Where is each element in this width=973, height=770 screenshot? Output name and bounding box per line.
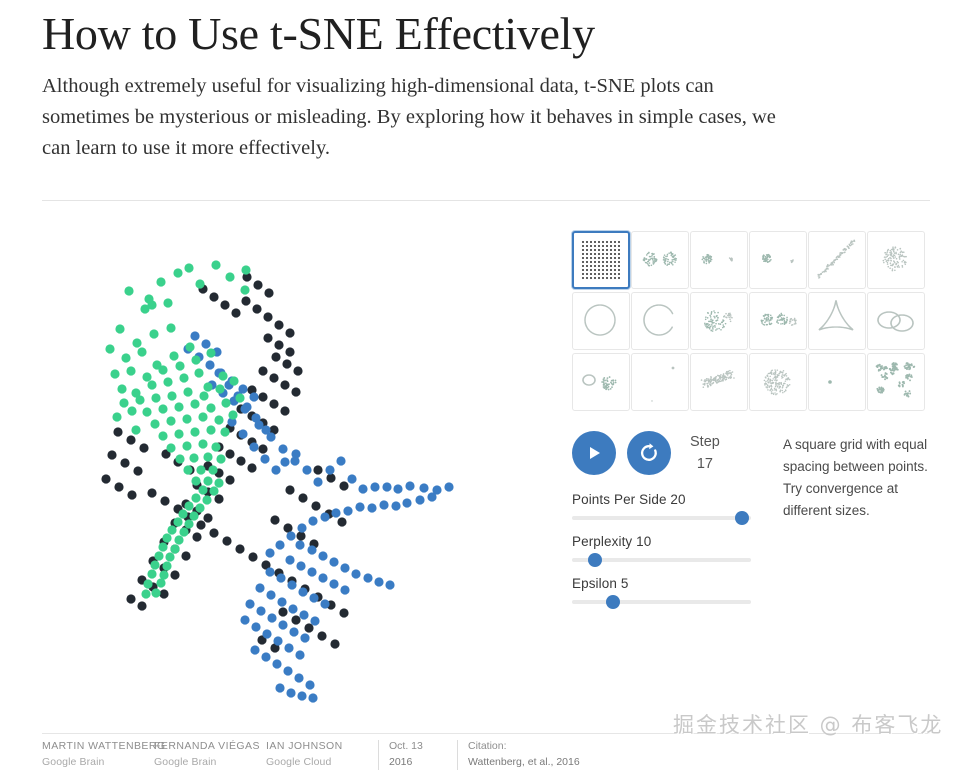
- dataset-description: A square grid with equal spacing between…: [783, 434, 933, 521]
- dataset-thumbnail-grid[interactable]: [572, 231, 925, 411]
- thumbnail-gaussian-cloud[interactable]: [867, 231, 925, 289]
- article-footer: MARTIN WATTENBERGGoogle BrainFERNANDA VI…: [42, 740, 648, 770]
- slider-group-epsilon: Epsilon 5: [572, 576, 762, 604]
- slider-thumb-perplexity[interactable]: [588, 553, 602, 567]
- thumbnail-three-clusters[interactable]: [749, 292, 807, 350]
- thumbnail-grid[interactable]: [572, 231, 630, 289]
- footer-citation-text: Wattenberg, et al., 2016: [468, 756, 648, 768]
- thumbnail-dense-cluster[interactable]: [749, 353, 807, 411]
- thumbnail-subset-clusters[interactable]: [867, 353, 925, 411]
- tsne-scatter-plot[interactable]: [60, 225, 530, 705]
- thumbnail-circle[interactable]: [572, 292, 630, 350]
- scatter-series-green: [105, 260, 250, 598]
- footer-date-line2: 2016: [389, 756, 457, 768]
- footer-date-line1: Oct. 13: [389, 740, 457, 752]
- page-subtitle: Although extremely useful for visualizin…: [42, 71, 784, 164]
- slider-label-epsilon: Epsilon 5: [572, 576, 762, 591]
- thumbnail-broken-circle[interactable]: [631, 292, 689, 350]
- thumbnail-two-clusters[interactable]: [631, 231, 689, 289]
- play-icon: [585, 444, 603, 462]
- play-button[interactable]: [572, 431, 616, 475]
- step-label: Step: [690, 431, 720, 453]
- footer-divider: [42, 733, 930, 734]
- article-header: How to Use t-SNE Effectively Although ex…: [42, 8, 842, 164]
- slider-thumb-points-per-side[interactable]: [735, 511, 749, 525]
- slider-epsilon[interactable]: [572, 600, 751, 604]
- footer-author-name: FERNANDA VIÉGAS: [154, 740, 266, 752]
- step-value: 17: [690, 453, 720, 475]
- header-divider: [42, 200, 930, 201]
- slider-container: Points Per Side 20Perplexity 10Epsilon 5: [572, 492, 762, 604]
- thumbnail-single-point[interactable]: [631, 353, 689, 411]
- slider-group-points-per-side: Points Per Side 20: [572, 492, 762, 520]
- restart-button[interactable]: [627, 431, 671, 475]
- thumbnail-two-different-sized-clusters[interactable]: [690, 231, 748, 289]
- page-title: How to Use t-SNE Effectively: [42, 8, 842, 61]
- thumbnail-orthogonal-steps[interactable]: [572, 353, 630, 411]
- step-counter: Step 17: [690, 431, 720, 476]
- footer-author-name: IAN JOHNSON: [266, 740, 378, 752]
- thumbnail-long-line[interactable]: [808, 231, 866, 289]
- slider-perplexity[interactable]: [572, 558, 751, 562]
- thumbnail-linked-rings[interactable]: [867, 292, 925, 350]
- footer-author-affiliation: Google Brain: [42, 756, 154, 768]
- thumbnail-trefoil-knot[interactable]: [808, 292, 866, 350]
- footer-citation-label: Citation:: [468, 740, 648, 752]
- thumbnail-random-cloud[interactable]: [690, 292, 748, 350]
- slider-group-perplexity: Perplexity 10: [572, 534, 762, 562]
- watermark: 掘金技术社区 @ 布客飞龙: [673, 709, 943, 739]
- simulation-controls: Step 17 Points Per Side 20Perplexity 10E…: [572, 428, 762, 604]
- thumbnail-tiny-point[interactable]: [808, 353, 866, 411]
- footer-author-name: MARTIN WATTENBERG: [42, 740, 154, 752]
- control-button-row: Step 17: [572, 428, 762, 478]
- footer-author-affiliation: Google Cloud: [266, 756, 378, 768]
- thumbnail-two-long-distance-clusters[interactable]: [749, 231, 807, 289]
- thumbnail-unlinked-cluster[interactable]: [690, 353, 748, 411]
- slider-label-perplexity: Perplexity 10: [572, 534, 762, 549]
- slider-points-per-side[interactable]: [572, 516, 751, 520]
- slider-thumb-epsilon[interactable]: [606, 595, 620, 609]
- restart-icon: [638, 442, 660, 464]
- footer-author-affiliation: Google Brain: [154, 756, 266, 768]
- slider-label-points-per-side: Points Per Side 20: [572, 492, 762, 507]
- scatter-canvas: [60, 225, 530, 705]
